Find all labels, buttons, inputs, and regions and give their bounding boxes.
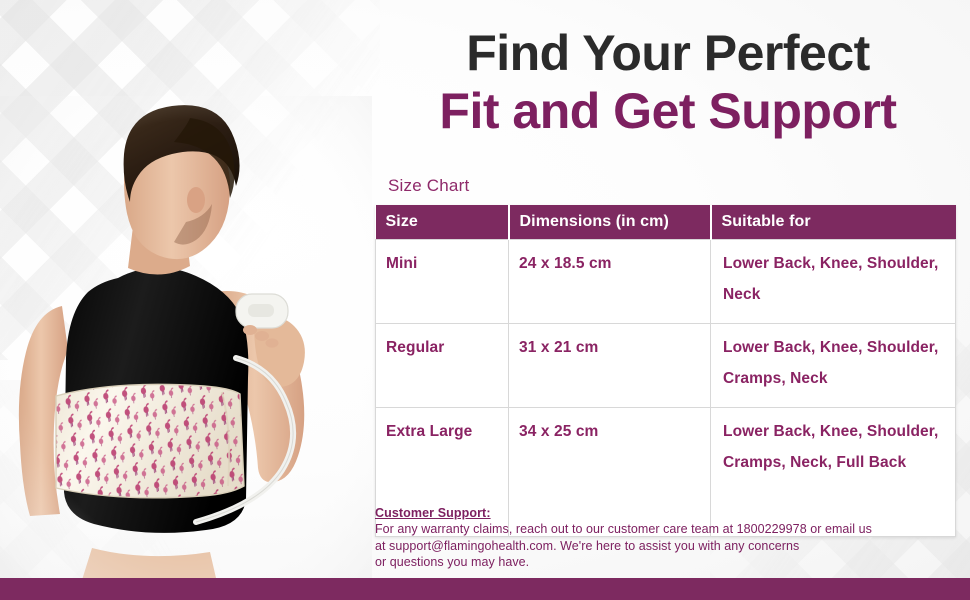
customer-support-block: Customer Support: For any warranty claim… bbox=[375, 505, 965, 571]
headline-line-1: Find Your Perfect bbox=[378, 24, 958, 82]
table-row: Regular 31 x 21 cm Lower Back, Knee, Sho… bbox=[376, 324, 956, 408]
cell-dimensions: 31 x 21 cm bbox=[509, 324, 711, 408]
size-chart-label: Size Chart bbox=[388, 176, 469, 196]
cell-suitable-for: Lower Back, Knee, Shoulder, Neck bbox=[711, 240, 956, 324]
table-row: Mini 24 x 18.5 cm Lower Back, Knee, Shou… bbox=[376, 240, 956, 324]
cell-dimensions: 24 x 18.5 cm bbox=[509, 240, 711, 324]
column-header-size: Size bbox=[376, 205, 509, 240]
cell-size: Mini bbox=[376, 240, 509, 324]
customer-support-title: Customer Support: bbox=[375, 505, 965, 521]
support-line-2: at support@flamingohealth.com. We're her… bbox=[375, 538, 965, 555]
column-header-suitable-for: Suitable for bbox=[711, 205, 956, 240]
customer-support-body: For any warranty claims, reach out to ou… bbox=[375, 521, 965, 571]
cell-suitable-for: Lower Back, Knee, Shoulder, Cramps, Neck bbox=[711, 324, 956, 408]
support-line-1: For any warranty claims, reach out to ou… bbox=[375, 521, 965, 538]
support-line-3: or questions you may have. bbox=[375, 554, 965, 571]
headline-line-2: Fit and Get Support bbox=[378, 82, 958, 140]
infographic-canvas: Find Your Perfect Fit and Get Support Si… bbox=[0, 0, 970, 600]
table-header-row: Size Dimensions (in cm) Suitable for bbox=[376, 205, 956, 240]
headline: Find Your Perfect Fit and Get Support bbox=[378, 24, 958, 140]
product-photo bbox=[0, 96, 372, 578]
column-header-dimensions: Dimensions (in cm) bbox=[509, 205, 711, 240]
cell-size: Regular bbox=[376, 324, 509, 408]
bottom-brand-bar bbox=[0, 578, 970, 600]
size-chart-table: Size Dimensions (in cm) Suitable for Min… bbox=[375, 205, 956, 537]
